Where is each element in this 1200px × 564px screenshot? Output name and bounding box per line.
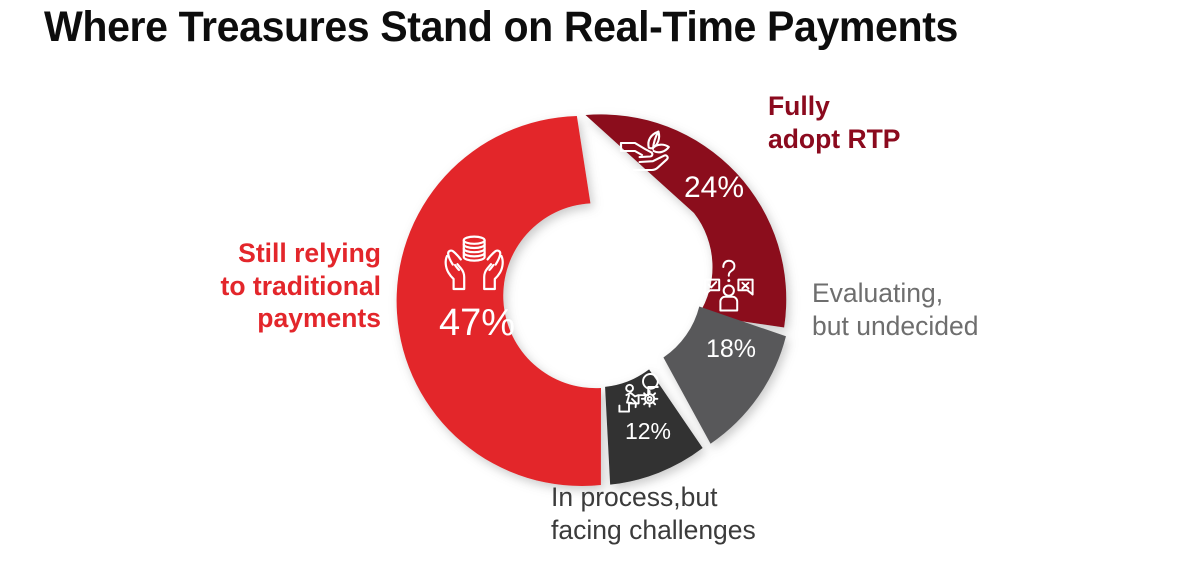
donut-chart-slide: Where Treasures Stand on Real-Time Payme… <box>0 0 1200 564</box>
slice-value-evaluating: 18% <box>706 335 756 363</box>
donut-chart-svg: 24% 18% 12% 47% <box>0 0 1200 564</box>
callout-label-still-relying-traditional-payments: Still relying to traditional payments <box>221 237 381 335</box>
slice-value-still: 47% <box>439 302 515 344</box>
callout-label-in-process-facing-challenges: In process,but facing challenges <box>551 481 756 546</box>
donut-chart: 24% 18% 12% 47% <box>0 0 1200 564</box>
slice-value-fully: 24% <box>684 171 744 204</box>
slice-value-inprocess: 12% <box>625 418 671 444</box>
callout-label-evaluating-but-undecided: Evaluating, but undecided <box>812 277 979 342</box>
slice-fully-adopt-rtp[interactable] <box>585 114 786 327</box>
callout-label-fully-adopt-rtp: Fully adopt RTP <box>768 90 901 155</box>
